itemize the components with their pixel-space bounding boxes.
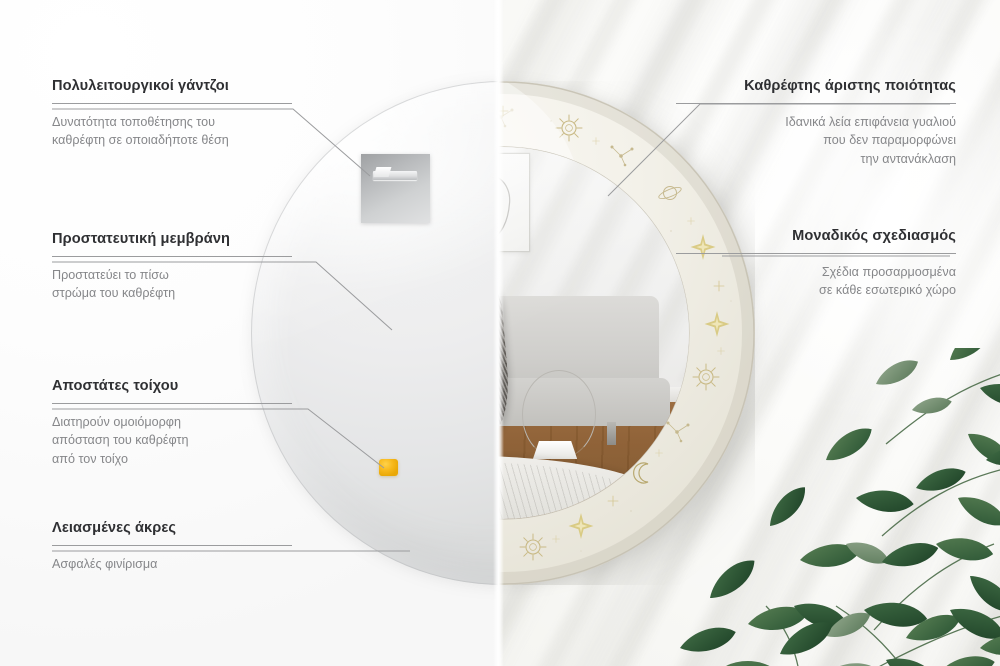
callout-description: Ασφαλές φινίρισμα: [52, 555, 292, 574]
callout-description: Σχέδια προσαρμοσμένα σε κάθε εσωτερικό χ…: [676, 263, 956, 300]
callout-protective-membrane: Προστατευτική μεμβράνη Προστατεύει το πί…: [52, 231, 292, 303]
callout-rule: [676, 103, 956, 104]
mounting-hook-plate: [361, 154, 430, 223]
infographic-canvas: Πολυλειτουργικοί γάντζοι Δυνατότητα τοπο…: [0, 0, 1000, 666]
callout-title: Προστατευτική μεμβράνη: [52, 231, 292, 249]
callout-title: Λειασμένες άκρες: [52, 520, 292, 538]
reflected-sofa-leg: [607, 422, 616, 444]
keyhole-slot-icon: [373, 171, 417, 180]
callout-description: Διατηρούν ομοιόμορφη απόσταση του καθρέφ…: [52, 413, 292, 469]
panel-divider-seam: [493, 0, 504, 666]
callout-rule: [52, 545, 292, 546]
callout-rule: [52, 403, 292, 404]
callout-unique-design: Μοναδικός σχεδιασμός Σχέδια προσαρμοσμέν…: [676, 228, 956, 300]
reflected-pendant-lamp-shade: [533, 441, 578, 460]
callout-description: Ιδανικά λεία επιφάνεια γυαλιού που δεν π…: [676, 113, 956, 169]
callout-rule: [52, 256, 292, 257]
callout-rule: [52, 103, 292, 104]
callout-top-quality-mirror: Καθρέφτης άριστης ποιότητας Ιδανικά λεία…: [676, 78, 956, 168]
callout-multifunctional-hooks: Πολυλειτουργικοί γάντζοι Δυνατότητα τοπο…: [52, 78, 292, 150]
callout-title: Καθρέφτης άριστης ποιότητας: [676, 78, 956, 96]
callout-title: Αποστάτες τοίχου: [52, 378, 292, 396]
callout-rule: [676, 253, 956, 254]
callout-title: Μοναδικός σχεδιασμός: [676, 228, 956, 246]
callout-title: Πολυλειτουργικοί γάντζοι: [52, 78, 292, 96]
wall-spacer-pad: [379, 459, 398, 476]
callout-wall-spacers: Αποστάτες τοίχου Διατηρούν ομοιόμορφη απ…: [52, 378, 292, 468]
callout-description: Δυνατότητα τοποθέτησης του καθρέφτη σε ο…: [52, 113, 292, 150]
callout-smoothed-edges: Λειασμένες άκρες Ασφαλές φινίρισμα: [52, 520, 292, 573]
callout-description: Προστατεύει το πίσω στρώμα του καθρέφτη: [52, 266, 292, 303]
